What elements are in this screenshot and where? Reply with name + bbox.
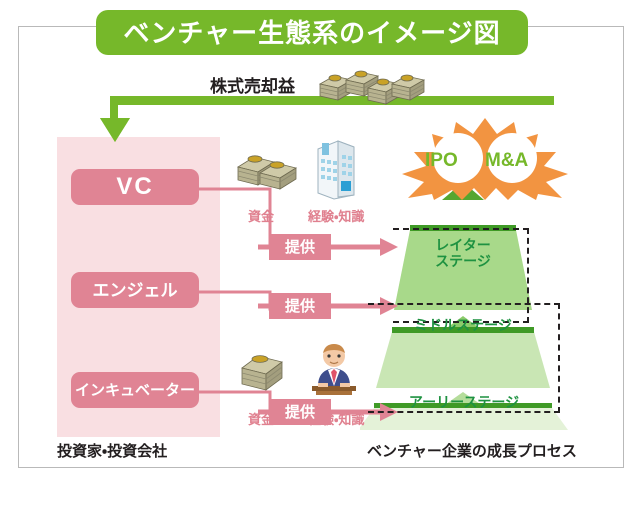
provide-label-2: 提供 xyxy=(285,299,315,314)
provide-label-1-box: 提供 xyxy=(269,234,331,260)
office-building-icon xyxy=(308,137,362,201)
page-title: ベンチャー生態系のイメージ図 xyxy=(123,20,500,46)
caption-growth-process: ベンチャー企業の成長プロセス xyxy=(367,440,577,461)
stage-label-later-line1: レイター xyxy=(435,237,490,253)
stage-label-later: レイター ステージ xyxy=(405,238,521,269)
stage-label-later-line2: ステージ xyxy=(435,253,491,269)
money-stack-icon xyxy=(238,350,294,402)
provide-arrow-1: 提供 xyxy=(258,234,398,260)
exit-profit-label: 株式売却益 xyxy=(210,72,295,97)
investor-box-vc[interactable]: VC xyxy=(71,169,199,205)
diagram-title-banner: ベンチャー生態系のイメージ図 xyxy=(96,10,528,55)
resource-label-knowledge-top: 経験・知識 xyxy=(308,210,364,223)
stage-label-middle: ミドルステージ xyxy=(390,318,536,334)
investor-label-angel: エンジェル xyxy=(93,282,178,299)
money-stack-icon xyxy=(236,143,298,199)
investor-label-vc: VC xyxy=(116,175,153,199)
exit-label-ipo: IPO xyxy=(425,151,458,170)
businessman-at-desk-icon xyxy=(304,340,364,404)
investor-box-incubator[interactable]: インキュベーター xyxy=(71,372,199,408)
provide-label-1: 提供 xyxy=(285,240,315,255)
provide-label-2-box: 提供 xyxy=(269,293,331,319)
investor-box-angel[interactable]: エンジェル xyxy=(71,272,199,308)
provide-label-3: 提供 xyxy=(285,405,315,420)
money-stack-icon xyxy=(318,66,428,108)
resource-group-top: 資金 経験・知識 xyxy=(232,137,392,223)
stage-label-early: アーリーステージ xyxy=(378,395,550,411)
provide-label-3-box: 提供 xyxy=(269,399,331,425)
caption-investors: 投資家・投資会社 xyxy=(57,440,167,461)
resource-label-funds-top: 資金 xyxy=(248,210,274,223)
exit-label-ma: M&A xyxy=(485,151,528,170)
investor-label-incubator: インキュベーター xyxy=(75,383,195,398)
